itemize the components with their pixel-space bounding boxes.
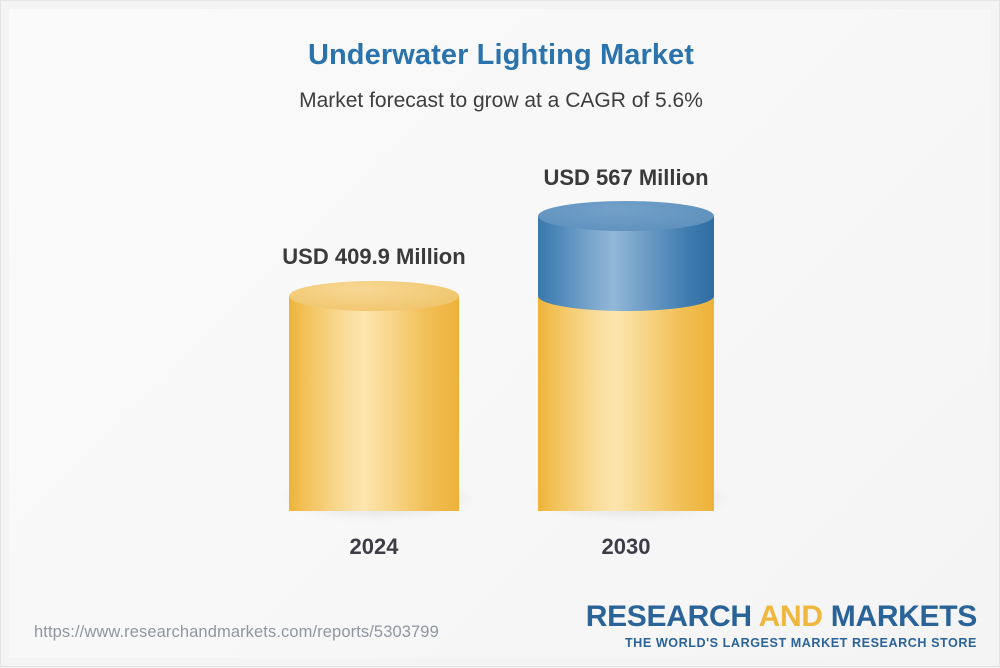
brand-wordmark: RESEARCH AND MARKETS [586, 601, 977, 633]
column-2024-top-cap [289, 281, 459, 311]
brand-research: RESEARCH [586, 600, 759, 633]
column-2024-body [289, 296, 459, 511]
column-2030 [538, 201, 714, 511]
category-label-2024: 2024 [274, 534, 474, 560]
column-2030-base-body [538, 296, 714, 511]
brand-tagline: THE WORLD'S LARGEST MARKET RESEARCH STOR… [586, 636, 977, 650]
brand-markets: MARKETS [831, 600, 977, 633]
plot-area: USD 409.9 Million 2024 USD 567 Million 2… [1, 1, 1000, 668]
value-label-2024: USD 409.9 Million [274, 244, 474, 270]
value-label-2030: USD 567 Million [526, 165, 726, 191]
brand-and: AND [759, 600, 831, 633]
column-2030-segment-base [538, 296, 714, 511]
source-url[interactable]: https://www.researchandmarkets.com/repor… [34, 623, 439, 642]
category-label-2030: 2030 [526, 534, 726, 560]
column-2030-segment-growth [538, 201, 714, 311]
chart-canvas: Underwater Lighting Market Market foreca… [0, 0, 1000, 667]
column-2024 [289, 281, 459, 511]
column-2030-growth-bottom-cap [538, 281, 714, 311]
column-2024-segment-base [289, 281, 459, 511]
column-2030-growth-top-cap [538, 201, 714, 231]
brand-logo: RESEARCH AND MARKETS THE WORLD'S LARGEST… [586, 601, 977, 650]
